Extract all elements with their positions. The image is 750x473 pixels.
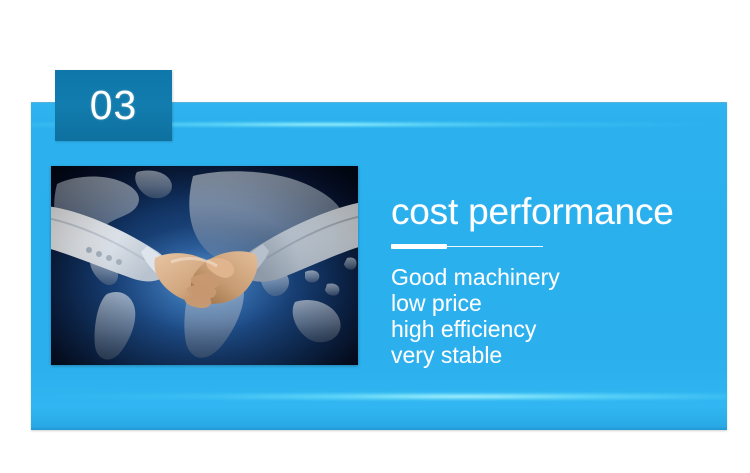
bullet-line: Good machinery: [391, 264, 711, 290]
headline: cost performance: [391, 190, 711, 234]
feature-photo: [51, 166, 358, 365]
divider-thin-segment: [447, 246, 543, 247]
text-column: cost performance Good machinery low pric…: [391, 190, 711, 368]
bullet-line: very stable: [391, 342, 711, 368]
section-number-label: 03: [90, 85, 138, 126]
section-number-badge: 03: [55, 70, 172, 141]
photo-vignette: [51, 166, 358, 365]
bullet-line: high efficiency: [391, 316, 711, 342]
bullet-line: low price: [391, 290, 711, 316]
panel-glow-streak-bottom: [31, 393, 727, 400]
divider-thick-segment: [391, 244, 447, 249]
headline-divider: [391, 244, 543, 249]
bullet-list: Good machinery low price high efficiency…: [391, 264, 711, 368]
